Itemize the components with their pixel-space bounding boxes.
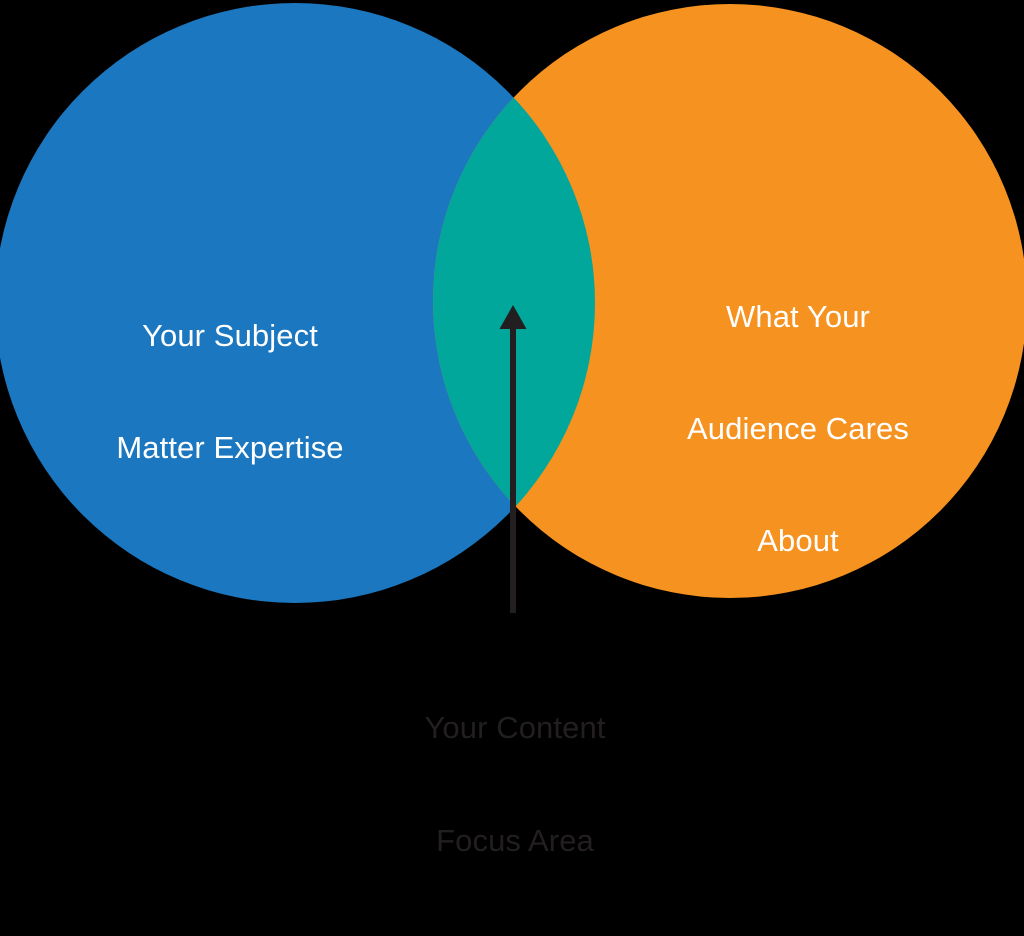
label-focus-line-1: Your Content bbox=[330, 709, 700, 747]
venn-diagram-canvas: Your Subject Matter Expertise What Your … bbox=[0, 0, 1024, 729]
arrow-shaft bbox=[510, 325, 516, 613]
label-right-line-2: Audience Cares bbox=[620, 410, 976, 447]
label-focus-line-2: Focus Area bbox=[330, 822, 700, 860]
label-left-line-2: Matter Expertise bbox=[48, 429, 412, 466]
label-right-line-1: What Your bbox=[620, 298, 976, 335]
subject-matter-expertise-label: Your Subject Matter Expertise bbox=[48, 243, 412, 541]
audience-cares-label: What Your Audience Cares About bbox=[620, 224, 976, 633]
label-left-line-1: Your Subject bbox=[48, 317, 412, 354]
label-right-line-3: About bbox=[620, 522, 976, 559]
content-focus-area-label: Your Content Focus Area bbox=[330, 633, 700, 936]
